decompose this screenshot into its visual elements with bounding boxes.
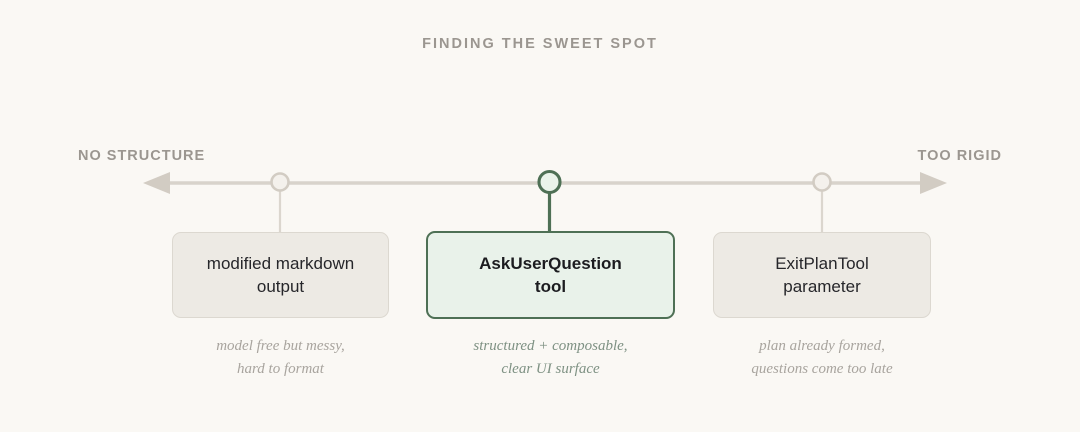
axis-marker-right[interactable] (814, 174, 831, 191)
axis-marker-center[interactable] (539, 172, 560, 193)
arrow-right-icon (920, 172, 947, 194)
node-caption-askuserquestion-tool: structured + composable,clear UI surface (426, 335, 675, 382)
axis-marker-left[interactable] (272, 174, 289, 191)
diagram-canvas: FINDING THE SWEET SPOT NO STRUCTURE TOO … (0, 0, 1080, 432)
node-caption-modified-markdown-output: model free but messy,hard to format (170, 335, 391, 382)
arrow-left-icon (143, 172, 170, 194)
node-box-askuserquestion-tool[interactable]: AskUserQuestiontool (426, 231, 675, 319)
node-box-modified-markdown-output[interactable]: modified markdownoutput (172, 232, 389, 318)
node-box-exitplantool-parameter[interactable]: ExitPlanToolparameter (713, 232, 931, 318)
node-caption-exitplantool-parameter: plan already formed,questions come too l… (712, 335, 932, 382)
